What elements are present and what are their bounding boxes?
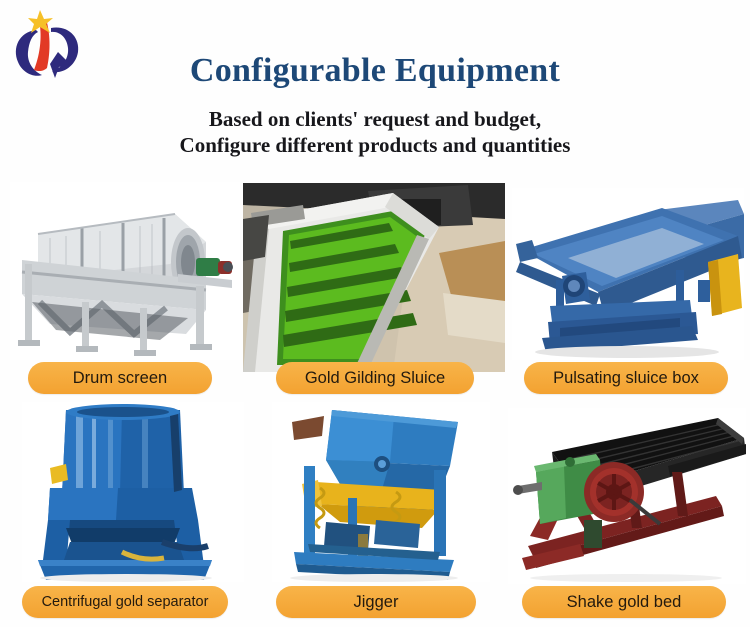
page-subtitle: Based on clients' request and budget, Co… [0, 106, 750, 158]
product-image-centrifugal-gold-separator [22, 402, 244, 582]
product-image-drum-screen [10, 182, 240, 360]
product-label-jigger[interactable]: Jigger [276, 586, 476, 618]
product-image-gold-gilding-sluice [243, 183, 505, 372]
page-title: Configurable Equipment [0, 52, 750, 90]
product-label-gold-gilding-sluice[interactable]: Gold Gilding Sluice [276, 362, 474, 394]
product-label-drum-screen[interactable]: Drum screen [28, 362, 212, 394]
subtitle-line-2: Configure different products and quantit… [0, 132, 750, 158]
product-image-pulsating-sluice-box [512, 188, 744, 360]
product-image-shake-gold-bed [508, 408, 746, 584]
subtitle-line-1: Based on clients' request and budget, [0, 106, 750, 132]
configurable-equipment-poster: Configurable Equipment Based on clients'… [0, 0, 750, 627]
product-label-pulsating-sluice-box[interactable]: Pulsating sluice box [524, 362, 728, 394]
product-label-shake-gold-bed[interactable]: Shake gold bed [522, 586, 726, 618]
product-image-jigger [272, 402, 490, 582]
product-label-centrifugal-gold-separator[interactable]: Centrifugal gold separator [22, 586, 228, 618]
